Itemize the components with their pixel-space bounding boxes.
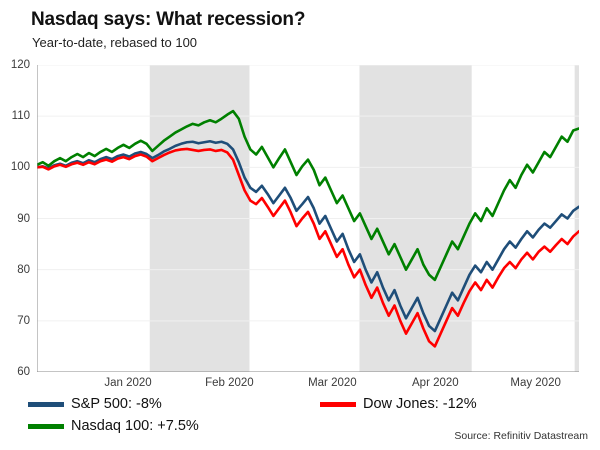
legend-color-swatch [320, 402, 356, 407]
y-axis-tick-label: 70 [0, 315, 30, 327]
legend-label: Dow Jones: -12% [363, 396, 477, 412]
legend-label: S&P 500: -8% [71, 396, 162, 412]
y-axis-tick-label: 110 [0, 110, 30, 122]
chart-container: Nasdaq says: What recession? Year-to-dat… [0, 0, 600, 450]
plot-area [37, 65, 579, 372]
x-axis-tick-label: May 2020 [510, 377, 561, 389]
y-axis-tick-label: 90 [0, 213, 30, 225]
x-axis-tick-label: Mar 2020 [308, 377, 357, 389]
legend-label: Nasdaq 100: +7.5% [71, 418, 199, 434]
y-axis-tick-label: 60 [0, 366, 30, 378]
x-axis-tick-label: Apr 2020 [412, 377, 459, 389]
legend-color-swatch [28, 402, 64, 407]
source-label: Source: Refinitiv Datastream [454, 430, 588, 442]
legend-item-sp500[interactable]: S&P 500: -8% [28, 396, 162, 412]
x-axis-tick-label: Feb 2020 [205, 377, 254, 389]
chart-subtitle: Year-to-date, rebased to 100 [32, 35, 197, 50]
y-axis-tick-label: 120 [0, 59, 30, 71]
legend-color-swatch [28, 424, 64, 429]
x-axis-tick-label: Jan 2020 [104, 377, 151, 389]
y-axis-tick-label: 100 [0, 161, 30, 173]
page-title: Nasdaq says: What recession? [31, 9, 305, 31]
chart-svg [37, 65, 579, 372]
legend-item-dow-jones[interactable]: Dow Jones: -12% [320, 396, 477, 412]
legend-item-nasdaq100[interactable]: Nasdaq 100: +7.5% [28, 418, 199, 434]
y-axis-tick-label: 80 [0, 264, 30, 276]
